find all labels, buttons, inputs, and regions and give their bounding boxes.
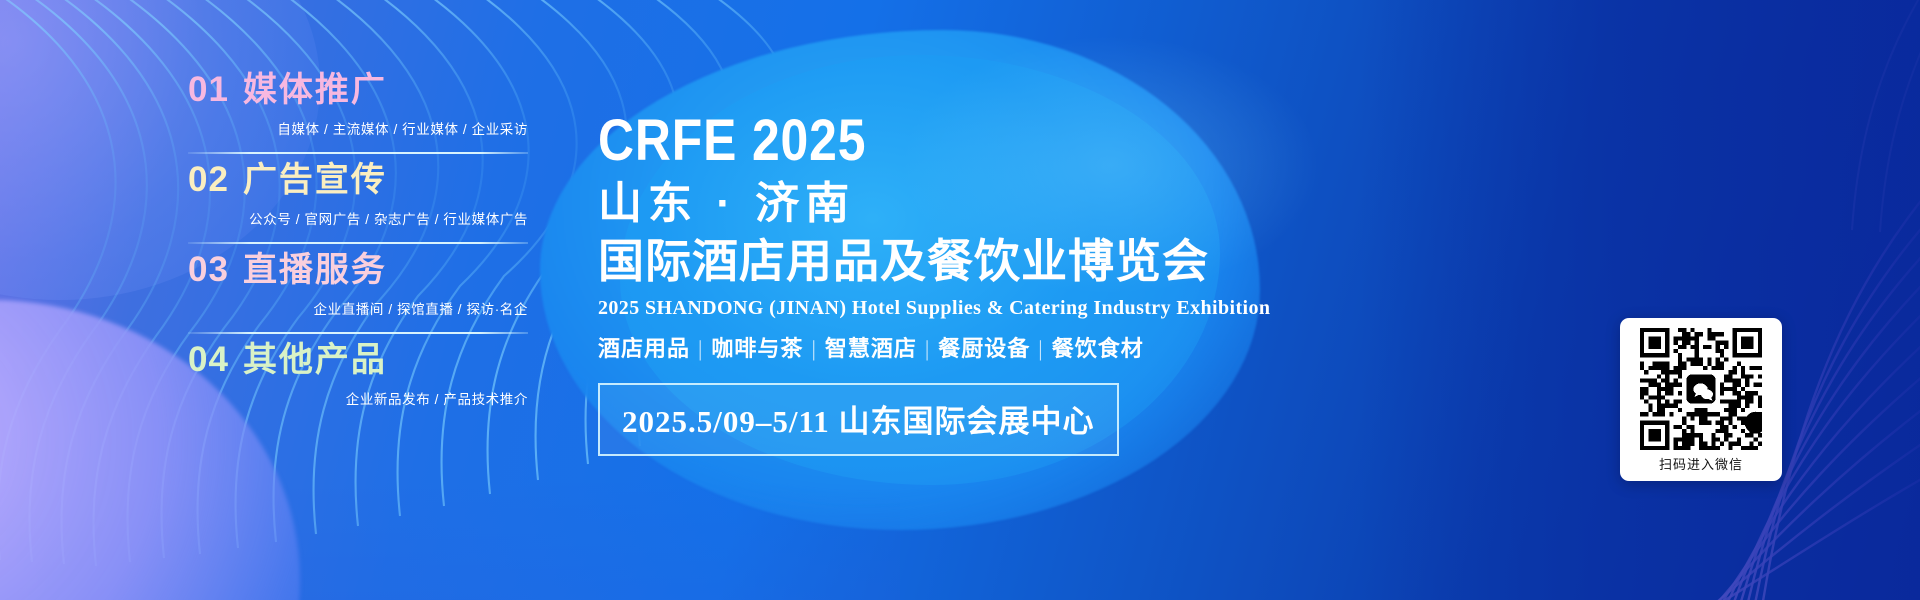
qr-code-card[interactable]: 扫码进入微信 <box>1620 318 1782 481</box>
service-heading: 02 广告宣传 <box>188 162 528 197</box>
service-number: 03 <box>188 252 229 287</box>
service-subtitle: 自媒体 / 主流媒体 / 行业媒体 / 企业采访 <box>188 118 528 138</box>
service-title: 广告宣传 <box>243 163 387 197</box>
qr-caption: 扫码进入微信 <box>1630 455 1772 475</box>
service-subtitle: 公众号 / 官网广告 / 杂志广告 / 行业媒体广告 <box>188 208 528 228</box>
exhibition-name: 国际酒店用品及餐饮业博览会 <box>598 237 1218 285</box>
category-separator: | <box>803 336 824 361</box>
service-heading: 03 直播服务 <box>188 252 528 287</box>
service-title: 媒体推广 <box>243 73 387 107</box>
list-divider <box>188 242 528 244</box>
category-list: 酒店用品|咖啡与茶|智慧酒店|餐厨设备|餐饮食材 <box>598 331 1218 363</box>
city-title: 山东 · 济南 <box>598 182 1218 226</box>
category-separator: | <box>917 336 938 361</box>
service-title: 其他产品 <box>243 343 387 377</box>
exhibition-name-english: 2025 SHANDONG (JINAN) Hotel Supplies & C… <box>598 297 1218 320</box>
category-item: 咖啡与茶 <box>711 336 803 361</box>
service-heading: 01 媒体推广 <box>188 72 528 107</box>
services-list: 01 媒体推广 自媒体 / 主流媒体 / 行业媒体 / 企业采访 02 广告宣传… <box>188 72 528 416</box>
category-separator: | <box>1030 336 1051 361</box>
qr-code-image[interactable] <box>1640 328 1762 450</box>
list-item[interactable]: 01 媒体推广 自媒体 / 主流媒体 / 行业媒体 / 企业采访 <box>188 72 528 162</box>
event-title-block: CRFE 2025 山东 · 济南 国际酒店用品及餐饮业博览会 2025 SHA… <box>598 112 1218 456</box>
list-divider <box>188 152 528 154</box>
list-item[interactable]: 02 广告宣传 公众号 / 官网广告 / 杂志广告 / 行业媒体广告 <box>188 162 528 252</box>
category-separator: | <box>690 336 711 361</box>
list-divider <box>188 332 528 334</box>
service-number: 01 <box>188 72 229 107</box>
date-venue-box: 2025.5/09–5/11 山东国际会展中心 <box>598 383 1119 456</box>
category-item: 酒店用品 <box>598 336 690 361</box>
service-number: 02 <box>188 162 229 197</box>
service-subtitle: 企业新品发布 / 产品技术推介 <box>188 388 528 408</box>
list-item[interactable]: 04 其他产品 企业新品发布 / 产品技术推介 <box>188 342 528 416</box>
service-heading: 04 其他产品 <box>188 342 528 377</box>
category-item: 餐厨设备 <box>938 336 1030 361</box>
brand-title: CRFE 2025 <box>598 112 1131 170</box>
category-item: 智慧酒店 <box>825 336 917 361</box>
service-number: 04 <box>188 342 229 377</box>
service-title: 直播服务 <box>243 253 387 287</box>
left-bottom-glow <box>0 480 900 600</box>
category-item: 餐饮食材 <box>1052 336 1144 361</box>
date-venue-text: 2025.5/09–5/11 山东国际会展中心 <box>622 404 1095 439</box>
list-item[interactable]: 03 直播服务 企业直播间 / 探馆直播 / 探访·名企 <box>188 252 528 342</box>
service-subtitle: 企业直播间 / 探馆直播 / 探访·名企 <box>188 298 528 318</box>
promo-banner: 01 媒体推广 自媒体 / 主流媒体 / 行业媒体 / 企业采访 02 广告宣传… <box>0 0 1920 600</box>
right-dark-vignette <box>1360 0 1920 600</box>
